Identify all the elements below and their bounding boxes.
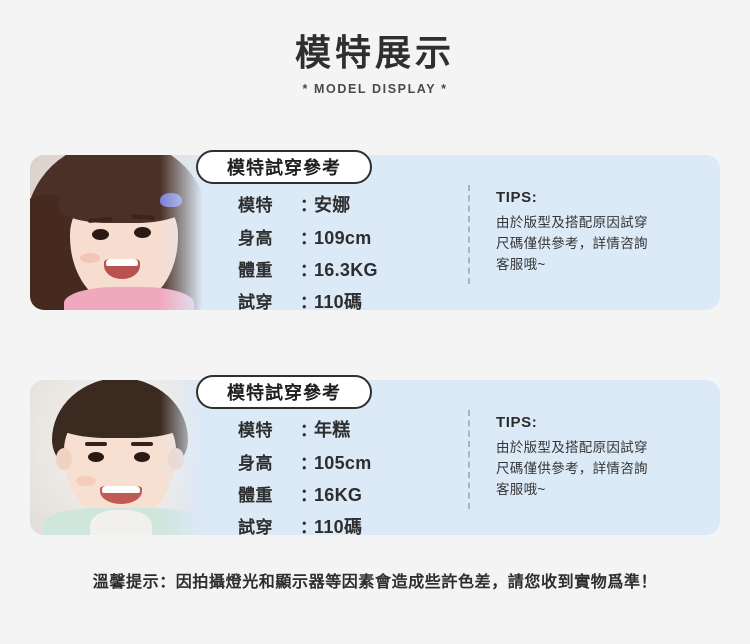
model-card-2-tips: TIPS: 由於版型及搭配原因試穿 尺碼僅供參考，詳情咨詢 客服哦~ [470,380,720,535]
spec-value-height: 105cm [314,453,372,474]
spec-value-model: 安娜 [314,191,351,217]
tips-line: 由於版型及搭配原因試穿 [496,212,702,233]
spec-row-fitting: 試穿 ： 110碼 [238,288,468,310]
badge-model-card-2: 模特試穿參考 [196,375,372,409]
tips-line: 尺碼僅供參考，詳情咨詢 [496,233,702,254]
spec-label-model: 模特 [238,191,300,216]
spec-colon: ： [300,449,314,474]
tips-line: 尺碼僅供參考，詳情咨詢 [496,458,702,479]
tips-line: 由於版型及搭配原因試穿 [496,437,702,458]
spec-value-height: 109cm [314,228,372,249]
spec-value-model: 年糕 [314,416,351,442]
spec-label-fitting: 試穿 [238,513,300,535]
tips-title: TIPS: [496,189,702,206]
spec-value-fitting: 110碼 [314,288,362,310]
model-card-1: 模特 ： 安娜 身高 ： 109cm 體重 ： 16.3KG 試穿 ： [30,155,720,310]
spec-colon: ： [300,191,314,216]
model-display-page: 模特展示 * MODEL DISPLAY * 模特 [0,0,750,644]
spec-colon: ： [300,513,314,535]
page-header: 模特展示 * MODEL DISPLAY * [0,0,750,96]
spec-colon: ： [300,416,314,441]
spec-label-fitting: 試穿 [238,288,300,310]
spec-colon: ： [300,256,314,281]
spec-label-weight: 體重 [238,256,300,281]
spec-row-fitting: 試穿 ： 110碼 [238,513,468,535]
spec-label-height: 身高 [238,449,300,474]
badge-model-card-1: 模特試穿參考 [196,150,372,184]
boy-model-photo [30,380,206,535]
model-card-2: 模特 ： 年糕 身高 ： 105cm 體重 ： 16KG 試穿 ： 11 [30,380,720,535]
spec-row-height: 身高 ： 105cm [238,449,468,474]
spec-value-weight: 16.3KG [314,260,378,281]
spec-colon: ： [300,288,314,310]
spec-row-weight: 體重 ： 16.3KG [238,256,468,281]
page-title: 模特展示 [0,30,750,75]
spec-label-weight: 體重 [238,481,300,506]
page-subtitle: * MODEL DISPLAY * [0,82,750,96]
spec-row-weight: 體重 ： 16KG [238,481,468,506]
model-card-1-tips: TIPS: 由於版型及搭配原因試穿 尺碼僅供參考，詳情咨詢 客服哦~ [470,155,720,310]
tips-line: 客服哦~ [496,479,702,500]
spec-row-height: 身高 ： 109cm [238,224,468,249]
spec-value-fitting: 110碼 [314,513,362,535]
footer-note: 溫馨提示：因拍攝燈光和顯示器等因素會造成些許色差，請您收到實物爲準！ [0,568,750,592]
spec-row-model: 模特 ： 年糕 [238,416,468,442]
spec-value-weight: 16KG [314,485,362,506]
spec-colon: ： [300,224,314,249]
spec-colon: ： [300,481,314,506]
girl-model-photo [30,155,206,310]
tips-line: 客服哦~ [496,254,702,275]
tips-title: TIPS: [496,414,702,431]
spec-label-model: 模特 [238,416,300,441]
spec-label-height: 身高 [238,224,300,249]
spec-row-model: 模特 ： 安娜 [238,191,468,217]
